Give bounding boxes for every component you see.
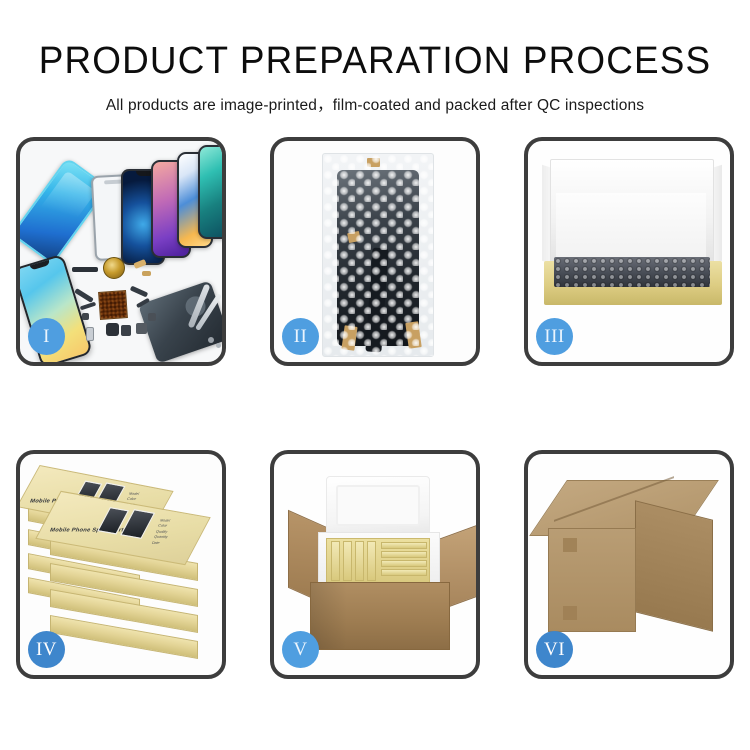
button-flex (82, 313, 89, 320)
step-badge-2: II (282, 318, 319, 355)
speaker-module (103, 257, 125, 279)
process-step-panel-2: II (270, 137, 480, 366)
yellow-box-flat-2 (381, 551, 427, 558)
phone-back-housing (138, 280, 222, 362)
yellow-box-vertical-1 (331, 541, 340, 581)
carton-side-face (635, 500, 713, 631)
process-step-panel-4: Mobile Phone Spare Parts Model Color Qua… (16, 450, 226, 679)
carton-tape-lower (563, 606, 577, 620)
yellow-box-flat-3 (381, 560, 427, 567)
bubble-wrap-bag (322, 153, 434, 357)
yellow-box-flat-1 (381, 542, 427, 549)
phone-display-teal (198, 145, 222, 239)
logic-board-chip (98, 290, 128, 320)
step-badge-3: III (536, 318, 573, 355)
product-preparation-infographic: PRODUCT PREPARATION PROCESS All products… (0, 0, 750, 750)
sim-card (86, 327, 94, 341)
foam-lid-open (326, 476, 430, 536)
carton-tape-upper (563, 538, 577, 552)
page-title: PRODUCT PREPARATION PROCESS (11, 0, 739, 82)
flex-cable-b (80, 302, 96, 311)
step-badge-6: VI (536, 631, 573, 668)
yellow-box-vertical-3 (355, 541, 364, 581)
header: PRODUCT PREPARATION PROCESS All products… (0, 0, 750, 115)
flex-cable-c (130, 286, 148, 298)
vibration-motor (121, 325, 131, 336)
step-badge-1: I (28, 318, 65, 355)
yellow-boxes-tray (326, 538, 430, 584)
yellow-box-vertical-2 (343, 541, 352, 581)
process-step-panel-6: VI (524, 450, 734, 679)
gold-contact (142, 271, 151, 276)
process-step-panel-1: I (16, 137, 226, 366)
step-badge-5: V (282, 631, 319, 668)
screw-pack (148, 313, 156, 321)
yellow-box-flat-4 (381, 569, 427, 576)
retail-box-front-specs: Model Color Quality Quantity Date (151, 518, 175, 546)
small-ic (136, 323, 147, 334)
bubble-wrapped-contents (554, 257, 710, 287)
screw-b (216, 343, 221, 348)
carton-body (310, 582, 450, 650)
process-step-panel-5: V (270, 450, 480, 679)
process-step-panel-3: III (524, 137, 734, 366)
step-badge-4: IV (28, 631, 65, 668)
camera-module (106, 323, 119, 336)
bubble-texture (323, 154, 433, 356)
yellow-box-vertical-4 (367, 541, 376, 581)
screw-a (208, 337, 214, 343)
battery-connector (72, 267, 98, 272)
carton-front-face (548, 528, 636, 632)
process-step-grid: I II (16, 137, 735, 679)
page-subtitle: All products are image-printed，film-coat… (0, 82, 750, 115)
